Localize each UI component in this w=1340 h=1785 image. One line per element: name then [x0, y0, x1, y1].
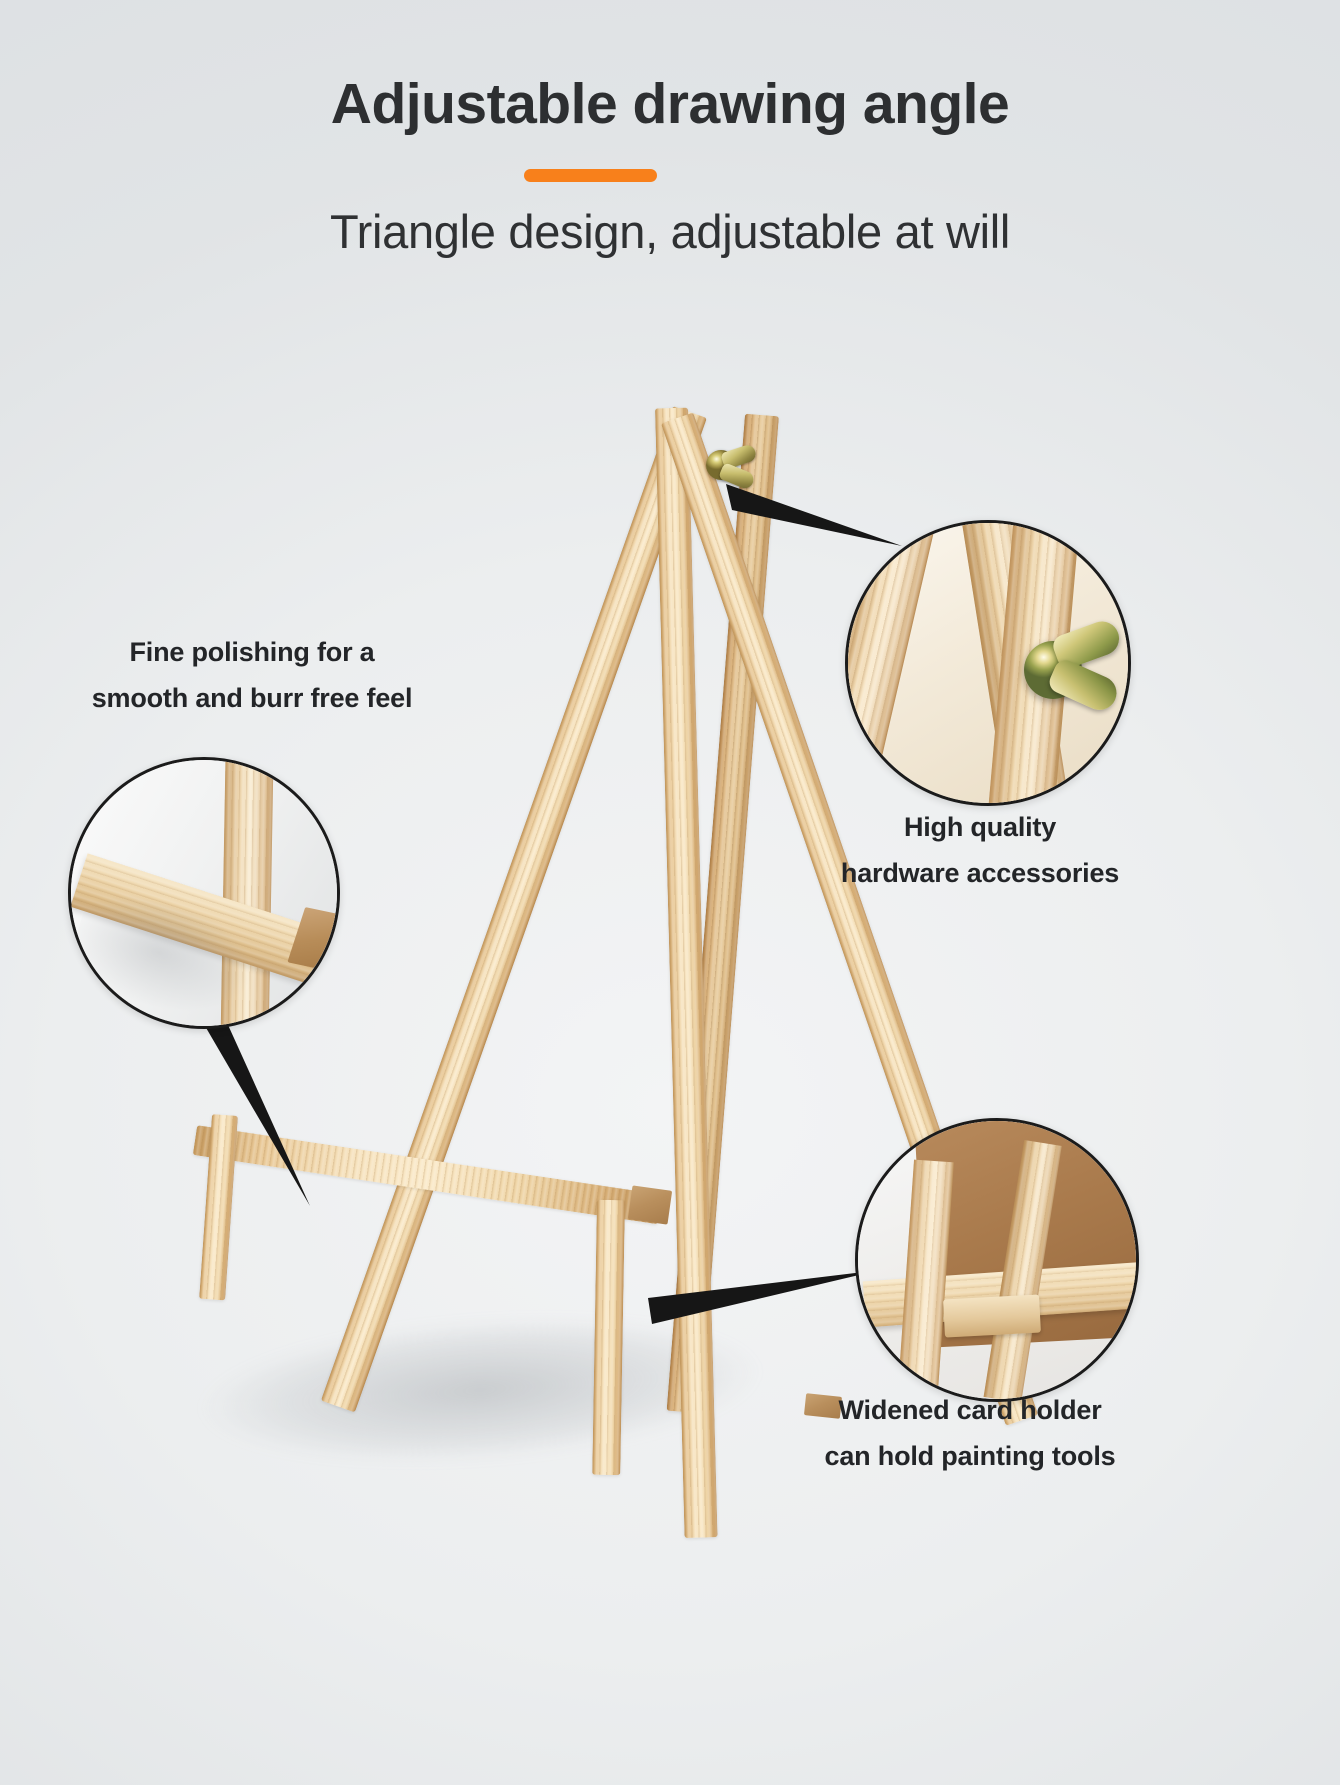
callout-label-high-quality-hardware-line1: High quality — [790, 805, 1170, 851]
title-divider-bar — [524, 169, 657, 182]
callout-image-card-holder-ledge — [858, 1121, 1136, 1399]
page-title: Adjustable drawing angle — [0, 76, 1340, 133]
product-feature-banner: Adjustable drawing angle Triangle design… — [0, 0, 1340, 1785]
callout-label-high-quality-hardware: High quality hardware accessories — [790, 805, 1170, 897]
callout-label-widened-card-holder-line1: Widened card holder — [760, 1388, 1180, 1434]
callout-label-fine-polishing-line2: smooth and burr free feel — [42, 676, 462, 722]
callout-label-fine-polishing-line1: Fine polishing for a — [42, 630, 462, 676]
callout-label-widened-card-holder: Widened card holder can hold painting to… — [760, 1388, 1180, 1480]
callout-label-fine-polishing: Fine polishing for a smooth and burr fre… — [42, 630, 462, 722]
callout-image-chamfered-end — [71, 760, 337, 1026]
callout-circle-fine-polishing — [68, 757, 340, 1029]
easel-bottom-support — [592, 1200, 625, 1475]
callout-label-widened-card-holder-line2: can hold painting tools — [760, 1434, 1180, 1480]
callout-circle-widened-card-holder — [855, 1118, 1139, 1402]
page-subtitle: Triangle design, adjustable at will — [0, 206, 1340, 258]
callout-image-wing-nut-joint — [848, 523, 1128, 803]
callout-label-high-quality-hardware-line2: hardware accessories — [790, 851, 1170, 897]
callout-circle-high-quality-hardware — [845, 520, 1131, 806]
easel-cross-brace-right-end — [628, 1185, 672, 1224]
